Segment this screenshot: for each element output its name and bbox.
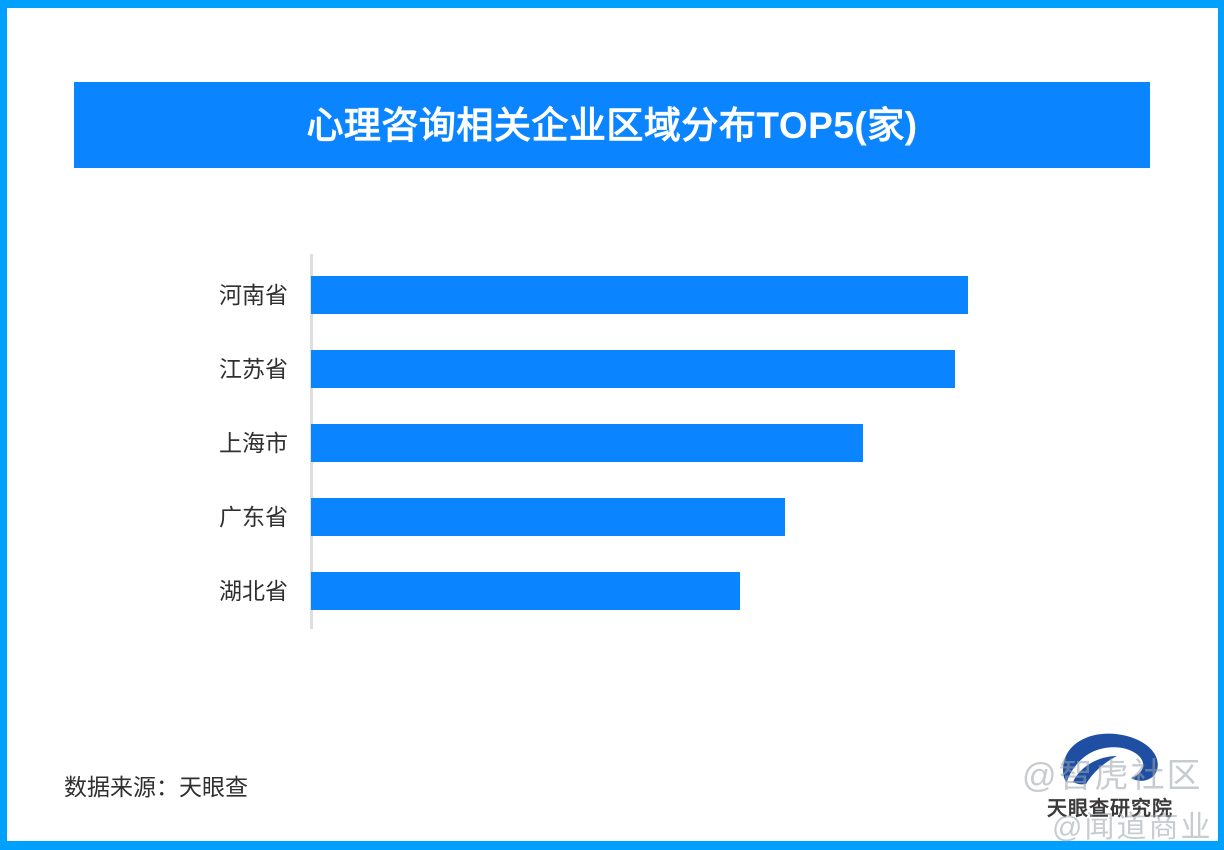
bar-rect	[311, 276, 968, 314]
bar-rect	[311, 350, 955, 388]
tianyancha-eye-swoosh-icon	[1053, 730, 1171, 788]
bar-category-label: 上海市	[120, 424, 288, 462]
bar-row: 河南省	[0, 276, 1100, 314]
bar-category-label: 江苏省	[120, 350, 288, 388]
brand-name: 天眼查研究院	[1025, 792, 1195, 821]
bar-row: 江苏省	[0, 350, 1100, 388]
bar-row: 广东省	[0, 498, 1100, 536]
bar-category-label: 河南省	[120, 276, 288, 314]
source-note: 数据来源：天眼查	[64, 768, 248, 802]
bar-row: 湖北省	[0, 572, 1100, 610]
bar-rect	[311, 498, 785, 536]
bar-row: 上海市	[0, 424, 1100, 462]
bar-category-label: 广东省	[120, 498, 288, 536]
bar-rect	[311, 424, 863, 462]
infographic-canvas: 心理咨询相关企业区域分布TOP5(家) 河南省江苏省上海市广东省湖北省 数据来源…	[0, 0, 1224, 850]
bar-rect	[311, 572, 740, 610]
brand-block: 天眼查研究院	[1008, 730, 1208, 830]
bar-chart: 河南省江苏省上海市广东省湖北省	[0, 0, 1224, 850]
bar-category-label: 湖北省	[120, 572, 288, 610]
